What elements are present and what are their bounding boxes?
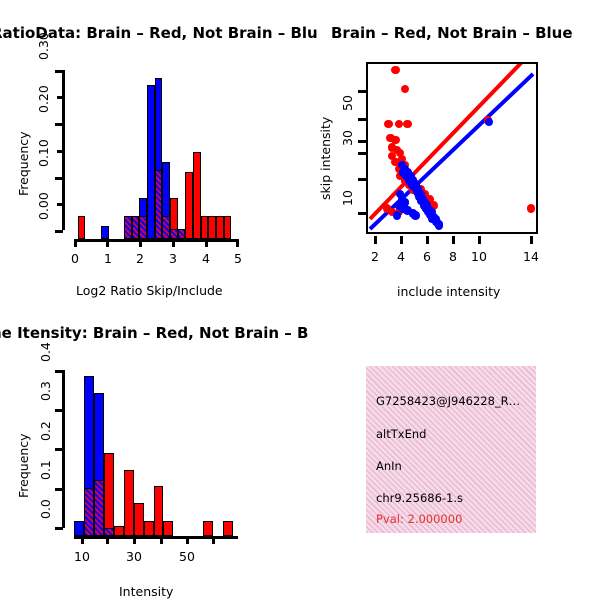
info-line-pval: Pval: 2.000000: [376, 512, 462, 526]
hist-bar-overlap: [170, 229, 178, 239]
scatter-title: Brain – Red, Not Brain – Blue: [331, 24, 573, 42]
scatter-point-red: [395, 120, 403, 128]
hist-bar-red: [216, 216, 224, 239]
hist-bar-red: [144, 521, 154, 536]
scatter-x-tick-2: [374, 236, 377, 244]
hist-bar-red: [201, 216, 209, 239]
scatter-x-ticklabel-2: 2: [371, 249, 379, 264]
scatter-plot-area: [366, 62, 538, 234]
hist-bar-red: [163, 521, 173, 536]
panel-annotation-info: G7258423@J946228_R… altTxEnd AnIn chr9.2…: [366, 366, 536, 533]
hist-bar-overlap: [124, 216, 132, 239]
scatter-y-tick-c: [358, 178, 366, 181]
scatter-x-ticklabel-6: 6: [423, 249, 431, 264]
hist-bar-overlap: [139, 216, 147, 239]
scatter-y-tick-50: [358, 118, 366, 121]
scatter-ylabel: skip intensity: [318, 117, 333, 200]
scatter-y-tick-10: [358, 212, 366, 215]
scatter-point-blue: [485, 118, 493, 126]
hist-bar-overlap: [94, 480, 104, 536]
info-line-event: altTxEnd: [376, 427, 426, 441]
panel-intensity-scatter: Brain – Red, Not Brain – Blue skip inten…: [300, 0, 600, 300]
scatter-point-red: [401, 85, 409, 93]
scatter-point-red: [527, 204, 535, 212]
hist-bar-red: [134, 503, 144, 536]
panel-ratio-histogram: RatioData: Brain – Red, Not Brain – Blu …: [0, 0, 300, 300]
scatter-point-red: [403, 120, 411, 128]
hist-bar-red: [208, 216, 216, 239]
hist-bar-blue: [74, 521, 84, 536]
scatter-xlabel: include intensity: [397, 284, 500, 299]
scatter-y-ticklabel-10: 10: [340, 190, 355, 206]
scatter-point-blue: [435, 221, 443, 229]
hist-bar-red: [193, 152, 201, 239]
scatter-point-red: [391, 66, 399, 74]
hist-bar-blue: [147, 85, 155, 239]
hist-bar-overlap: [104, 528, 114, 536]
scatter-x-ticklabel-10: 10: [471, 249, 487, 264]
hist-bar-red: [114, 526, 124, 536]
scatter-x-tick-14: [530, 236, 533, 244]
ratio-histogram-bars: [0, 0, 300, 300]
scatter-x-tick-4: [400, 236, 403, 244]
hist-bar-red: [223, 521, 233, 536]
hist-bar-red: [124, 470, 134, 536]
intensity-histogram-bars: [0, 300, 300, 600]
hist-bar-overlap: [132, 216, 140, 239]
hist-bar-red: [224, 216, 232, 239]
scatter-x-ticklabel-8: 8: [449, 249, 457, 264]
scatter-point-red: [384, 120, 392, 128]
hist-bar-overlap: [84, 488, 94, 536]
hist-bar-red: [154, 486, 164, 536]
scatter-x-tick-10: [478, 236, 481, 244]
info-line-locus: chr9.25686-1.s: [376, 491, 463, 505]
info-line-probeset: G7258423@J946228_R…: [376, 394, 520, 408]
scatter-y-tick-b: [358, 140, 366, 143]
scatter-x-tick-8: [452, 236, 455, 244]
hist-bar-red: [78, 216, 86, 239]
hist-bar-overlap: [155, 170, 163, 239]
scatter-y-ticklabel-30: 30: [340, 130, 355, 146]
hist-bar-overlap: [178, 229, 186, 239]
panel-intensity-histogram: ne Itensity: Brain – Red, Not Brain – B …: [0, 300, 300, 600]
scatter-x-ticklabel-14: 14: [523, 249, 539, 264]
scatter-x-tick-6: [426, 236, 429, 244]
hist-bar-blue: [101, 226, 109, 239]
hist-bar-red: [104, 453, 114, 536]
info-line-gene: AnIn: [376, 459, 402, 473]
scatter-x-ticklabel-4: 4: [397, 249, 405, 264]
scatter-y-ticklabel-50: 50: [340, 95, 355, 111]
hist-bar-red: [203, 521, 213, 536]
scatter-y-tick-30: [358, 152, 366, 155]
scatter-y-tick-a: [358, 90, 366, 93]
scatter-point-blue: [411, 211, 419, 219]
hist-bar-red: [185, 172, 193, 239]
scatter-point-blue: [393, 211, 401, 219]
hist-bar-overlap: [162, 216, 170, 239]
